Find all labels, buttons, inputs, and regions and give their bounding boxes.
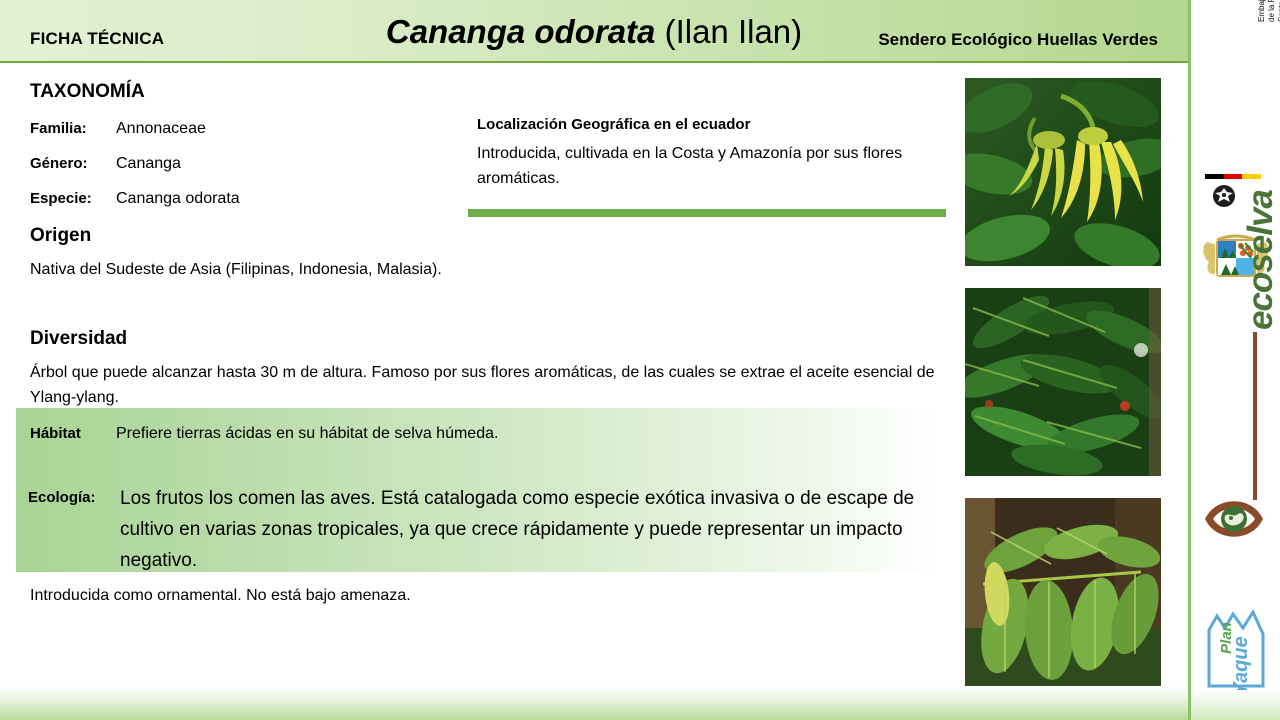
embassy-line-2: de la República Federal de Alemania xyxy=(1267,0,1277,22)
taxonomy-row-especie: Especie:Cananga odorata xyxy=(30,190,240,208)
taxonomy-heading: TAXONOMÍA xyxy=(30,81,145,103)
page-header: FICHA TÉCNICA Cananga odorata (Ilan Ilan… xyxy=(0,0,1188,63)
logo-ecoselva: ecoselva xyxy=(1191,318,1280,568)
embassy-text: Embajada de la República Federal de Alem… xyxy=(1257,0,1280,22)
taxonomy-label-genero: Género: xyxy=(30,155,116,172)
diversity-heading: Diversidad xyxy=(30,328,127,350)
ecology-text: Los frutos los comen las aves. Está cata… xyxy=(120,483,920,576)
habitat-text: Prefiere tierras ácidas en su hábitat de… xyxy=(116,425,498,443)
diversity-text: Árbol que puede alcanzar hasta 30 m de a… xyxy=(30,360,940,410)
localization-text: Introducida, cultivada en la Costa y Ama… xyxy=(477,141,917,191)
plan-yaque-line-2: Yaque xyxy=(1230,636,1252,692)
logo-plan-yaque: Plan Yaque xyxy=(1191,608,1280,694)
habitat-ecology-block: Hábitat Prefiere tierras ácidas en su há… xyxy=(16,408,938,572)
main-content: TAXONOMÍA Familia:Annonaceae Género:Cana… xyxy=(0,63,955,663)
taxonomy-value-familia: Annonaceae xyxy=(116,120,206,137)
taxonomy-label-familia: Familia: xyxy=(30,120,116,137)
closing-text: Introducida como ornamental. No está baj… xyxy=(30,587,411,605)
photo-column xyxy=(965,78,1163,686)
german-flag-bar xyxy=(1205,174,1261,179)
logo-german-embassy: Embajada de la República Federal de Alem… xyxy=(1191,8,1280,208)
ficha-tecnica-page: FICHA TÉCNICA Cananga odorata (Ilan Ilan… xyxy=(0,0,1280,720)
localization-heading: Localización Geográfica en el ecuador xyxy=(477,116,948,133)
plan-yaque-icon: Plan Yaque xyxy=(1201,608,1271,692)
sidebar-footer-band xyxy=(1191,690,1280,720)
organization-name: Sendero Ecológico Huellas Verdes xyxy=(878,30,1158,50)
taxonomy-value-genero: Cananga xyxy=(116,155,181,172)
ecoselva-eye-globe-icon xyxy=(1205,494,1263,544)
sponsor-sidebar: Embajada de la República Federal de Alem… xyxy=(1188,0,1280,720)
taxonomy-row-genero: Género:Cananga xyxy=(30,155,181,173)
taxonomy-value-especie: Cananga odorata xyxy=(116,190,240,207)
footer-band xyxy=(0,686,1188,720)
localization-block: Localización Geográfica en el ecuador In… xyxy=(468,116,948,191)
scientific-name: Cananga odorata xyxy=(386,13,656,50)
localization-divider xyxy=(468,209,946,217)
federal-eagle-icon xyxy=(1211,184,1237,208)
photo-foliage xyxy=(965,288,1161,476)
taxonomy-label-especie: Especie: xyxy=(30,190,116,207)
embassy-line-1: Embajada xyxy=(1257,0,1267,22)
habitat-label: Hábitat xyxy=(30,425,81,442)
ecoselva-wordmark: ecoselva xyxy=(1241,190,1280,330)
origin-text: Nativa del Sudeste de Asia (Filipinas, I… xyxy=(30,261,442,279)
photo-flowers xyxy=(965,78,1161,266)
photo-leaves xyxy=(965,498,1161,686)
ecology-label: Ecología: xyxy=(28,489,96,506)
ecoselva-accent-rule xyxy=(1253,332,1257,500)
origin-heading: Origen xyxy=(30,225,91,247)
taxonomy-row-familia: Familia:Annonaceae xyxy=(30,120,206,138)
common-name: (Ilan Ilan) xyxy=(665,13,803,50)
